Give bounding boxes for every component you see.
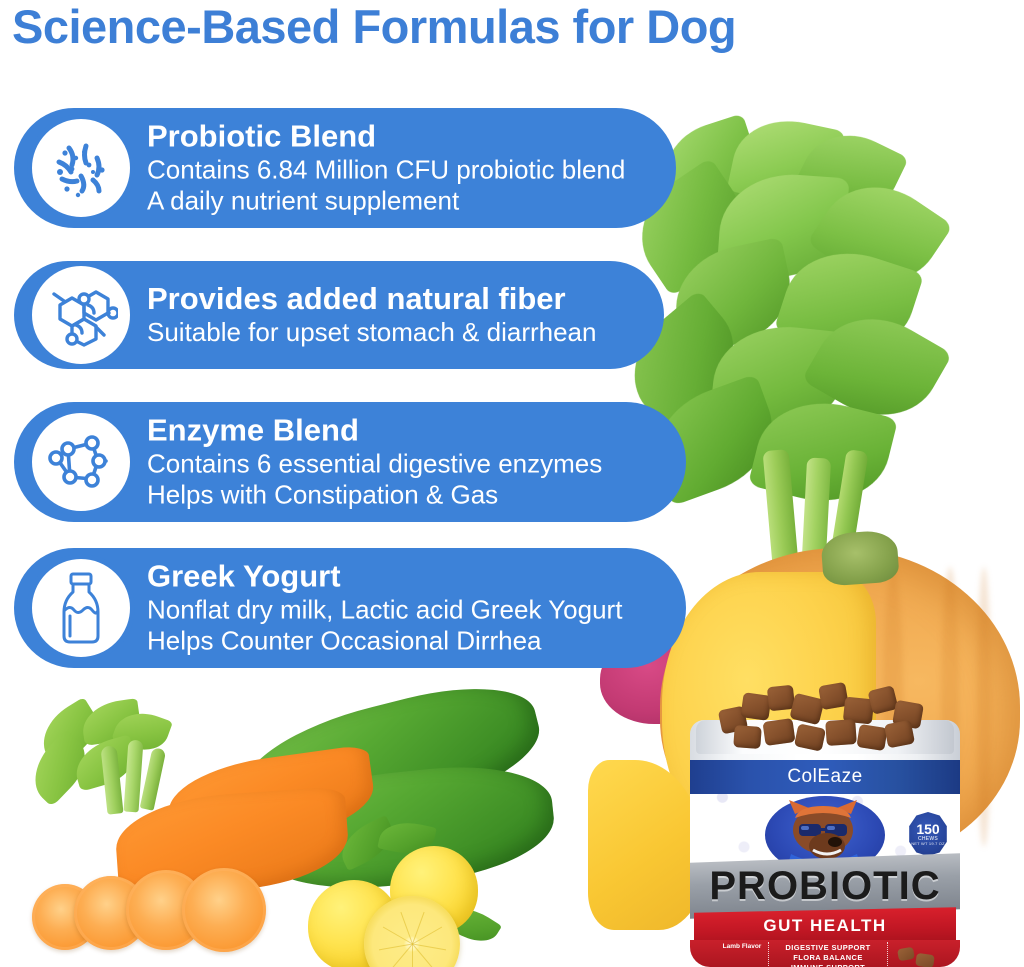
milk-bottle-icon <box>27 554 135 662</box>
molecule-fiber-icon <box>27 261 135 369</box>
feature-title: Greek Yogurt <box>147 559 668 594</box>
feature-line: Contains 6.84 Million CFU probiotic blen… <box>147 154 658 185</box>
brand-name: ColEaze <box>690 766 960 788</box>
feature-line: A daily nutrient supplement <box>147 185 658 216</box>
feature-card-greek-yogurt: Greek Yogurt Nonflat dry milk, Lactic ac… <box>14 548 686 668</box>
feature-line: Helps with Constipation & Gas <box>147 479 668 510</box>
feature-text-block: Provides added natural fiber Suitable fo… <box>147 282 646 348</box>
vegetables-photo <box>8 700 628 967</box>
feature-card-probiotic-blend: Probiotic Blend Contains 6.84 Million CF… <box>14 108 676 228</box>
page-title: Science-Based Formulas for Dog <box>12 2 1012 51</box>
lemon-half-photo <box>364 896 460 967</box>
jar-label: ColEaze <box>690 760 960 967</box>
enzyme-network-icon <box>27 408 135 516</box>
feature-text-block: Probiotic Blend Contains 6.84 Million CF… <box>147 119 658 216</box>
bacteria-probiotic-icon <box>27 114 135 222</box>
count-number: 150 <box>916 822 939 837</box>
feature-title: Enzyme Blend <box>147 413 668 448</box>
chew-treats-pile <box>712 682 940 744</box>
count-weight: NET WT 19.7 OZ <box>911 842 945 846</box>
feature-line: Helps Counter Occasional Dirrhea <box>147 625 668 656</box>
pumpkin-wedge-photo <box>588 760 706 930</box>
feature-line: Nonflat dry milk, Lactic acid Greek Yogu… <box>147 594 668 625</box>
flavor-badge: Lamb Flavor <box>720 943 764 951</box>
treat-swatch <box>915 953 935 967</box>
product-infographic: Science-Based Formulas for Dog <box>0 0 1024 967</box>
feature-line: Suitable for upset stomach & diarrhean <box>147 317 646 348</box>
celery-photo <box>618 120 1024 590</box>
gut-health-text: GUT HEALTH <box>690 916 960 936</box>
product-kind: PROBIOTIC <box>690 864 960 909</box>
feature-text-block: Enzyme Blend Contains 6 essential digest… <box>147 413 668 510</box>
feature-card-enzyme-blend: Enzyme Blend Contains 6 essential digest… <box>14 402 686 522</box>
feature-title: Provides added natural fiber <box>147 282 646 317</box>
feature-card-natural-fiber: Provides added natural fiber Suitable fo… <box>14 261 664 369</box>
feature-title: Probiotic Blend <box>147 119 658 154</box>
feature-line: Contains 6 essential digestive enzymes <box>147 448 668 479</box>
benefits-list: DIGESTIVE SUPPORTFLORA BALANCEIMMUNE SUP… <box>768 942 888 967</box>
jar-body: ColEaze <box>690 720 960 967</box>
feature-text-block: Greek Yogurt Nonflat dry milk, Lactic ac… <box>147 559 668 656</box>
product-jar: ColEaze <box>690 682 960 967</box>
